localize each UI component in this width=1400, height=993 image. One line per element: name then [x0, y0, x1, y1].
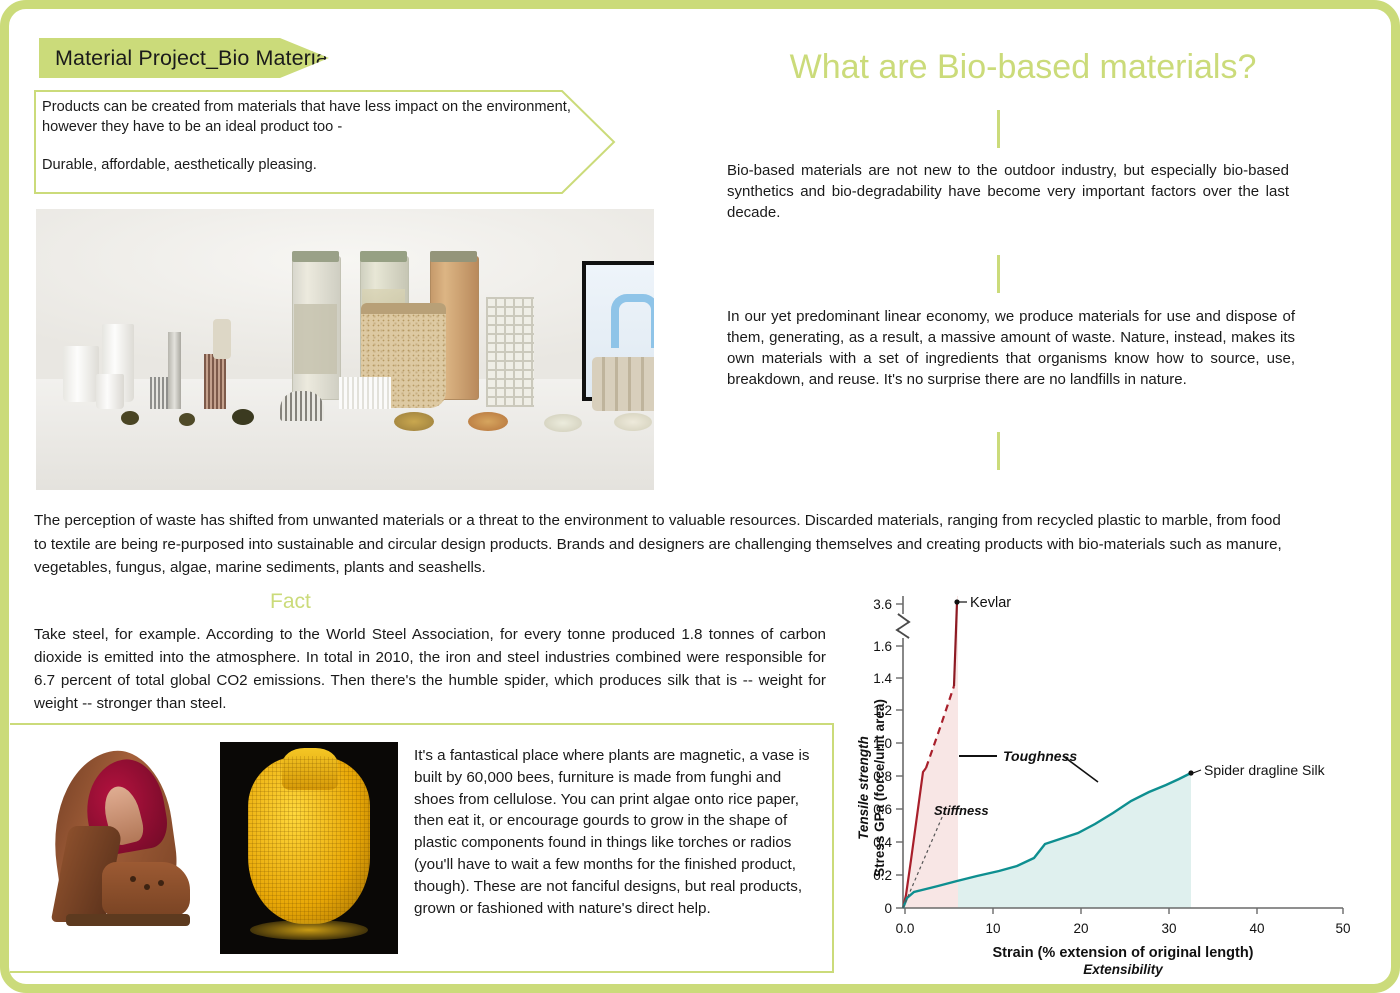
photo-specimen-3	[232, 409, 254, 425]
cellulose-shoe-photo	[42, 734, 202, 962]
photo-disc-2	[468, 412, 508, 431]
intro-text: Products can be created from materials t…	[42, 98, 608, 176]
photo-disc-4	[614, 413, 652, 431]
photo-jar-1-contents	[294, 304, 337, 374]
photo-specimen-2	[179, 413, 195, 426]
waste-perception-paragraph: The perception of waste has shifted from…	[34, 509, 1284, 580]
svg-text:0.0: 0.0	[896, 921, 915, 936]
svg-text:10: 10	[985, 921, 1000, 936]
divider-rule-3	[997, 432, 1000, 470]
kevlar-endpoint	[954, 599, 959, 604]
photo-disc-3	[544, 414, 582, 432]
silk-endpoint	[1188, 770, 1193, 775]
svg-text:30: 30	[1161, 921, 1176, 936]
photo-lattice-sculpture	[486, 297, 534, 407]
intro-callout: Products can be created from materials t…	[34, 90, 634, 194]
photo-striped-cylinder-2	[204, 354, 226, 409]
bottom-paragraph: It's a fantastical place where plants ar…	[414, 745, 822, 919]
photo-tube-cluster	[592, 357, 654, 411]
photo-disc-1	[394, 412, 434, 431]
photo-cup-3	[96, 374, 124, 409]
x-ticks	[905, 908, 1343, 914]
photo-small-block	[213, 319, 231, 359]
photo-jar-3-lid	[430, 251, 477, 262]
fact-paragraph: Take steel, for example. According to th…	[34, 623, 826, 715]
silk-label: Spider dragline Silk	[1204, 762, 1326, 778]
svg-text:50: 50	[1335, 921, 1350, 936]
x-axis-sublabel: Extensibility	[1083, 962, 1164, 977]
photo-rod	[168, 332, 181, 409]
tensile-strength-chart: 3.6 1.6 1.4 1.2 1.0 0.8 0.6 0.4 0.2 0 0.…	[855, 588, 1390, 978]
svg-text:1.6: 1.6	[873, 639, 892, 654]
svg-text:1.4: 1.4	[873, 671, 892, 686]
slide-title-banner: Material Project_Bio Materials	[39, 38, 329, 78]
photo-jar-2-lid	[360, 251, 407, 262]
photo-speckled-vase-rim	[361, 303, 446, 314]
y-axis-label-line2: Stress GPa (force/unit area)	[872, 699, 887, 877]
photo-specimen-1	[121, 411, 139, 425]
fact-heading: Fact	[270, 590, 311, 614]
intro-line-2: Durable, affordable, aesthetically pleas…	[42, 156, 608, 176]
photo-comb	[339, 377, 391, 409]
svg-text:40: 40	[1249, 921, 1264, 936]
svg-text:20: 20	[1073, 921, 1088, 936]
page-title: Material Project_Bio Materials	[39, 46, 344, 71]
right-paragraph-2: In our yet predominant linear economy, w…	[727, 306, 1295, 390]
divider-rule-1	[997, 110, 1000, 148]
right-paragraph-1: Bio-based materials are not new to the o…	[727, 160, 1289, 223]
silk-leader	[1193, 770, 1201, 773]
divider-rule-2	[997, 255, 1000, 293]
photo-fluted-dome	[280, 391, 324, 421]
bio-materials-photo	[36, 209, 654, 490]
bee-wax-vase-photo	[220, 742, 398, 954]
toughness-label: Toughness	[1003, 748, 1077, 764]
y-ticks	[896, 604, 903, 908]
chart-svg: 3.6 1.6 1.4 1.2 1.0 0.8 0.6 0.4 0.2 0 0.…	[855, 588, 1390, 978]
slide-canvas: Material Project_Bio Materials Products …	[0, 0, 1400, 993]
photo-striped-cylinder-1	[150, 377, 170, 409]
svg-text:3.6: 3.6	[873, 597, 892, 612]
svg-text:0: 0	[884, 901, 892, 916]
x-axis-label: Strain (% extension of original length)	[992, 945, 1253, 961]
photo-cup-1	[63, 346, 99, 402]
x-tick-labels: 0.0 10 20 30 40 50	[896, 921, 1351, 936]
y-axis-label-line1: Tensile strength	[856, 736, 871, 840]
stiffness-label: Stiffness	[934, 803, 989, 818]
intro-line-1: Products can be created from materials t…	[42, 98, 608, 137]
photo-jar-1-lid	[292, 251, 339, 262]
section-question-title: What are Bio-based materials?	[718, 48, 1328, 87]
kevlar-label: Kevlar	[970, 595, 1011, 611]
toughness-leader-right	[1063, 756, 1098, 782]
photo-print-arch	[611, 294, 654, 348]
